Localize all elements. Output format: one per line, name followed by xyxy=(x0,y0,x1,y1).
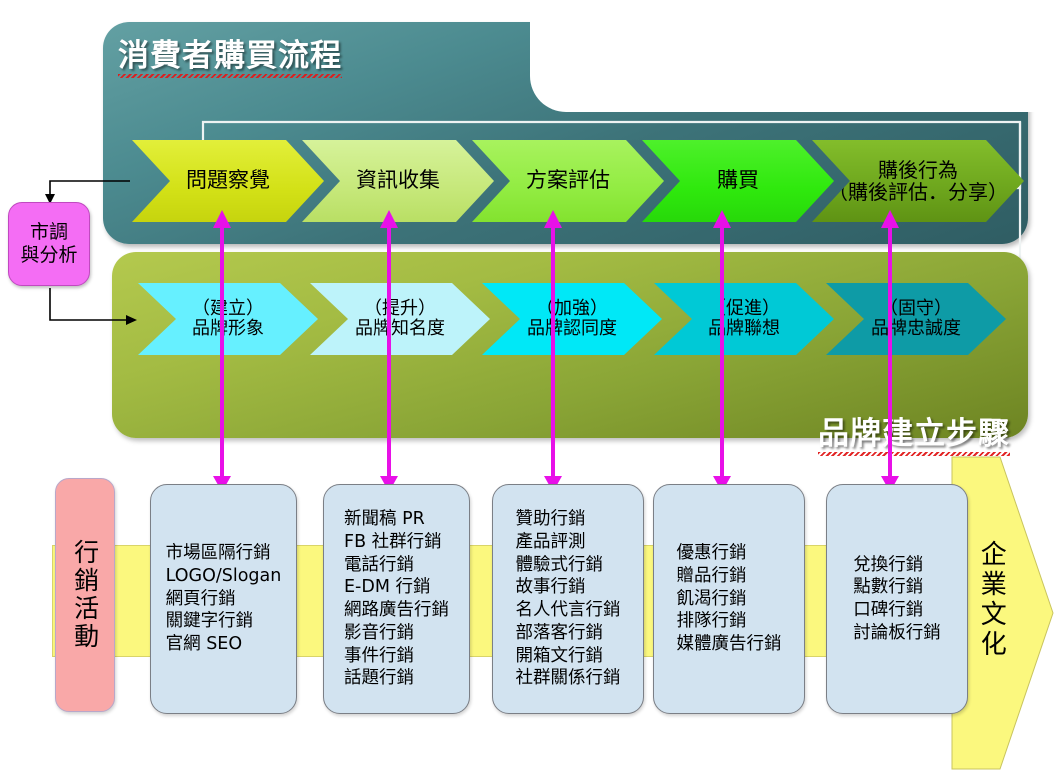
tactic-item: 市場區隔行銷 xyxy=(166,542,282,565)
tactic-item: 開箱文行銷 xyxy=(516,645,621,668)
tactic-item: 討論板行銷 xyxy=(853,622,941,645)
tactic-item: 贈品行銷 xyxy=(677,565,782,588)
diagram-canvas: 企業文化 消費者購買流程 問題察覺 資訊收集 方案評估 購買 購後行為 （購後評… xyxy=(0,0,1055,772)
brand-label-1: 品牌形象 xyxy=(192,319,264,339)
tactic-item: 影音行銷 xyxy=(344,622,449,645)
brand-label-3: 品牌認同度 xyxy=(527,319,617,339)
tactic-item: 贊助行銷 xyxy=(516,508,621,531)
tactic-box-4[interactable]: 優惠行銷贈品行銷飢渴行銷排隊行銷媒體廣告行銷 xyxy=(653,484,805,714)
market-research-line1: 市調 xyxy=(30,221,68,243)
tactic-list-4: 優惠行銷贈品行銷飢渴行銷排隊行銷媒體廣告行銷 xyxy=(669,542,790,656)
tactic-item: 飢渴行銷 xyxy=(677,588,782,611)
tactic-item: 官網 SEO xyxy=(166,633,282,656)
stage-sublabel-5: （購後評估．分享） xyxy=(828,181,1008,203)
tactic-list-5: 兌換行銷點數行銷口碑行銷討論板行銷 xyxy=(845,554,949,645)
brand-label-2: 品牌知名度 xyxy=(355,319,445,339)
tactic-box-3[interactable]: 贊助行銷產品評測體驗式行銷故事行銷名人代言行銷部落客行銷開箱文行銷社群關係行銷 xyxy=(492,484,644,714)
brand-prefix-1: （建立） xyxy=(192,299,264,319)
tactic-item: 網路廣告行銷 xyxy=(344,599,449,622)
tactic-item: 社群關係行銷 xyxy=(516,667,621,690)
tactic-item: 名人代言行銷 xyxy=(516,599,621,622)
tactic-item: 電話行銷 xyxy=(344,554,449,577)
tactic-item: FB 社群行銷 xyxy=(344,531,449,554)
brand-building-title: 品牌建立步驟 xyxy=(818,408,1010,453)
tactic-item: 話題行銷 xyxy=(344,667,449,690)
tactic-list-1: 市場區隔行銷LOGO/Slogan網頁行銷關鍵字行銷官網 SEO xyxy=(158,542,290,656)
panel-notch-decor xyxy=(530,14,1040,112)
tactic-item: 口碑行銷 xyxy=(853,599,941,622)
market-research-line2: 與分析 xyxy=(20,244,77,266)
tactic-item: LOGO/Slogan xyxy=(166,565,282,588)
stage-label-3: 方案評估 xyxy=(526,169,610,193)
brand-label-5: 品牌忠誠度 xyxy=(871,319,961,339)
tactic-item: 部落客行銷 xyxy=(516,622,621,645)
brand-prefix-2: （提升） xyxy=(355,299,445,319)
corporate-culture-label: 企業文化 xyxy=(975,540,1006,660)
tactic-list-2: 新聞稿 PRFB 社群行銷電話行銷E-DM 行銷網路廣告行銷影音行銷事件行銷話題… xyxy=(336,508,457,690)
brand-prefix-4: （促進） xyxy=(708,299,780,319)
brand-prefix-3: （加強） xyxy=(527,299,617,319)
tactic-item: 故事行銷 xyxy=(516,576,621,599)
market-research-connectors xyxy=(0,0,200,360)
marketing-activity-box[interactable]: 行銷活動 xyxy=(55,478,115,712)
tactic-item: 優惠行銷 xyxy=(677,542,782,565)
tactic-item: 新聞稿 PR xyxy=(344,508,449,531)
stage-label-2: 資訊收集 xyxy=(356,169,440,193)
marketing-activity-label: 行銷活動 xyxy=(69,539,100,651)
stage-label-5: 購後行為 xyxy=(828,159,1008,181)
brand-label-4: 品牌聯想 xyxy=(708,319,780,339)
tactic-list-3: 贊助行銷產品評測體驗式行銷故事行銷名人代言行銷部落客行銷開箱文行銷社群關係行銷 xyxy=(508,508,629,690)
tactic-item: 點數行銷 xyxy=(853,576,941,599)
tactic-box-2[interactable]: 新聞稿 PRFB 社群行銷電話行銷E-DM 行銷網路廣告行銷影音行銷事件行銷話題… xyxy=(323,484,470,714)
tactic-item: 媒體廣告行銷 xyxy=(677,633,782,656)
tactic-item: 網頁行銷 xyxy=(166,588,282,611)
tactic-item: 兌換行銷 xyxy=(853,554,941,577)
tactic-box-5[interactable]: 兌換行銷點數行銷口碑行銷討論板行銷 xyxy=(826,484,968,714)
stage-label-4: 購買 xyxy=(717,169,759,193)
tactic-item: 事件行銷 xyxy=(344,645,449,668)
tactic-item: E-DM 行銷 xyxy=(344,576,449,599)
tactic-item: 排隊行銷 xyxy=(677,610,782,633)
tactic-box-1[interactable]: 市場區隔行銷LOGO/Slogan網頁行銷關鍵字行銷官網 SEO xyxy=(150,484,297,714)
tactic-item: 體驗式行銷 xyxy=(516,554,621,577)
market-research-box[interactable]: 市調 與分析 xyxy=(8,202,90,286)
tactic-item: 產品評測 xyxy=(516,531,621,554)
tactic-item: 關鍵字行銷 xyxy=(166,610,282,633)
brand-prefix-5: （固守） xyxy=(871,299,961,319)
